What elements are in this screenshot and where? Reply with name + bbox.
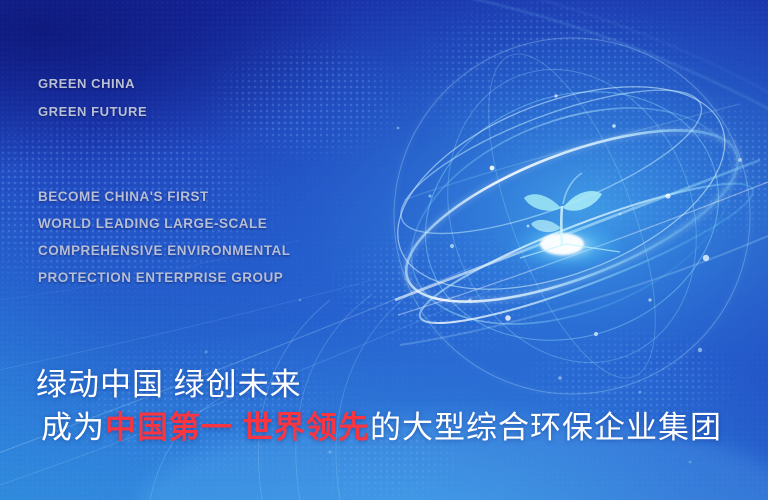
headline-line-1: 绿动中国 绿创未来 — [36, 364, 722, 406]
mission-line-3: COMPREHENSIVE ENVIRONMENTAL — [38, 237, 291, 264]
tagline-block: GREEN CHINA GREEN FUTURE — [38, 70, 147, 126]
headline-highlight-b: 世界领先 — [242, 410, 370, 445]
headline-highlight-a: 中国第一 — [105, 410, 233, 445]
headline-prefix: 成为 — [41, 410, 105, 445]
mission-line-2: WORLD LEADING LARGE-SCALE — [38, 210, 291, 237]
mission-line-4: PROTECTION ENTERPRISE GROUP — [38, 264, 291, 291]
tagline-line-2: GREEN FUTURE — [38, 98, 147, 126]
tagline-line-1: GREEN CHINA — [38, 70, 147, 98]
headline-suffix: 的大型综合环保企业集团 — [370, 410, 722, 445]
mission-statement-block: BECOME CHINA'S FIRST WORLD LEADING LARGE… — [38, 183, 291, 291]
mission-line-1: BECOME CHINA'S FIRST — [38, 183, 291, 210]
headline-block: 绿动中国 绿创未来 成为中国第一世界领先的大型综合环保企业集团 — [36, 364, 722, 450]
headline-line-2: 成为中国第一世界领先的大型综合环保企业集团 — [36, 406, 722, 450]
promotional-banner: GREEN CHINA GREEN FUTURE BECOME CHINA'S … — [0, 0, 768, 500]
